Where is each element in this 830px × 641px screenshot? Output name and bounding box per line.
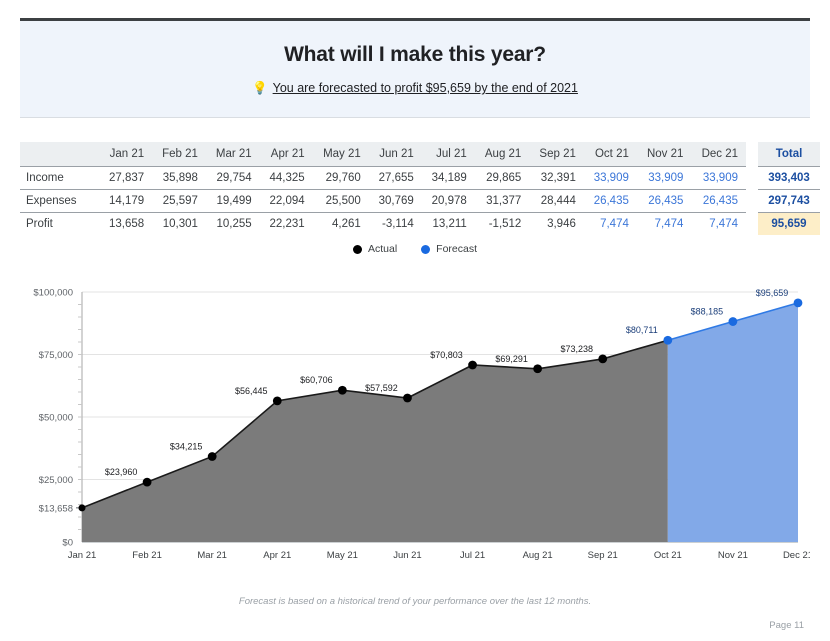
cell-income-sep-21: 32,391: [529, 167, 584, 190]
point-label-mar-21: $34,215: [170, 441, 203, 451]
row-label-profit: Profit: [20, 213, 99, 236]
x-tick-label-feb-21: Feb 21: [132, 550, 162, 561]
table-row: Expenses14,17925,59719,49922,09425,50030…: [20, 190, 746, 213]
column-header-sep-21: Sep 21: [529, 142, 584, 167]
cell-income-jun-21: 27,655: [369, 167, 422, 190]
row-label-header: [20, 142, 99, 167]
cell-profit-feb-21: 10,301: [152, 213, 206, 236]
data-point-aug-21[interactable]: [533, 364, 542, 373]
x-tick-label-apr-21: Apr 21: [263, 550, 291, 561]
data-point-nov-21[interactable]: [729, 317, 738, 326]
y-tick-label: $75,000: [39, 350, 73, 361]
total-profit: 95,659: [758, 213, 820, 236]
cell-income-jan-21: 27,837: [99, 167, 152, 190]
cell-profit-nov-21: 7,474: [637, 213, 692, 236]
cell-income-may-21: 29,760: [313, 167, 369, 190]
table-row: Profit13,65810,30110,25522,2314,261-3,11…: [20, 213, 746, 236]
forecast-area: [668, 303, 798, 542]
point-label-jul-21: $70,803: [430, 350, 463, 360]
cell-profit-aug-21: -1,512: [475, 213, 530, 236]
cell-expenses-jan-21: 14,179: [99, 190, 152, 213]
page-title: What will I make this year?: [20, 21, 810, 67]
data-point-jul-21[interactable]: [468, 361, 477, 370]
x-tick-label-aug-21: Aug 21: [523, 550, 553, 561]
data-point-jan-21[interactable]: [79, 504, 86, 511]
cell-income-dec-21: 33,909: [691, 167, 746, 190]
point-label-jun-21: $57,592: [365, 383, 398, 393]
cell-expenses-aug-21: 31,377: [475, 190, 530, 213]
x-tick-label-jun-21: Jun 21: [393, 550, 422, 561]
cell-expenses-mar-21: 19,499: [206, 190, 260, 213]
column-header-jul-21: Jul 21: [422, 142, 475, 167]
cell-profit-may-21: 4,261: [313, 213, 369, 236]
page-number: Page 11: [769, 620, 804, 631]
point-label-may-21: $60,706: [300, 375, 333, 385]
cell-income-apr-21: 44,325: [260, 167, 313, 190]
y-tick-label: $0: [62, 538, 73, 549]
x-tick-label-may-21: May 21: [327, 550, 358, 561]
total-header: Total: [758, 142, 820, 167]
x-tick-label-nov-21: Nov 21: [718, 550, 748, 561]
data-point-jun-21[interactable]: [403, 394, 412, 403]
cell-income-jul-21: 34,189: [422, 167, 475, 190]
column-header-may-21: May 21: [313, 142, 369, 167]
cell-income-oct-21: 33,909: [584, 167, 637, 190]
cell-income-aug-21: 29,865: [475, 167, 530, 190]
forecast-summary-link[interactable]: You are forecasted to profit $95,659 by …: [273, 81, 578, 95]
table-header-row: Jan 21Feb 21Mar 21Apr 21May 21Jun 21Jul …: [20, 142, 746, 167]
y-tick-label-first-value: $13,658: [39, 503, 73, 514]
total-row: 393,403: [758, 167, 820, 190]
months-table-body: Income27,83735,89829,75444,32529,76027,6…: [20, 167, 746, 236]
chart-legend: ActualForecast: [0, 243, 830, 255]
cell-expenses-dec-21: 26,435: [691, 190, 746, 213]
point-label-aug-21: $69,291: [495, 354, 528, 364]
x-tick-label-mar-21: Mar 21: [197, 550, 227, 561]
months-table: Jan 21Feb 21Mar 21Apr 21May 21Jun 21Jul …: [20, 142, 746, 235]
cell-expenses-oct-21: 26,435: [584, 190, 637, 213]
total-table-head: Total: [758, 142, 820, 167]
lightbulb-icon: 💡: [252, 82, 268, 95]
legend-item-actual: Actual: [353, 243, 397, 255]
point-label-dec-21: $95,659: [756, 288, 789, 298]
data-point-sep-21[interactable]: [598, 355, 607, 364]
cell-income-nov-21: 33,909: [637, 167, 692, 190]
cell-profit-mar-21: 10,255: [206, 213, 260, 236]
x-tick-label-oct-21: Oct 21: [654, 550, 682, 561]
cell-income-feb-21: 35,898: [152, 167, 206, 190]
data-point-mar-21[interactable]: [208, 452, 217, 461]
cell-income-mar-21: 29,754: [206, 167, 260, 190]
cell-expenses-sep-21: 28,444: [529, 190, 584, 213]
column-header-apr-21: Apr 21: [260, 142, 313, 167]
total-header-row: Total: [758, 142, 820, 167]
cell-profit-jul-21: 13,211: [422, 213, 475, 236]
total-income: 393,403: [758, 167, 820, 190]
total-column-table: Total 393,403297,74395,659: [758, 142, 820, 235]
cell-profit-dec-21: 7,474: [691, 213, 746, 236]
cell-profit-apr-21: 22,231: [260, 213, 313, 236]
y-tick-label: $25,000: [39, 475, 73, 486]
point-label-oct-21: $80,711: [626, 325, 658, 335]
cell-expenses-feb-21: 25,597: [152, 190, 206, 213]
column-header-feb-21: Feb 21: [152, 142, 206, 167]
total-table-body: 393,403297,74395,659: [758, 167, 820, 236]
total-row: 95,659: [758, 213, 820, 236]
legend-dot-actual-icon: [353, 245, 362, 254]
cell-expenses-may-21: 25,500: [313, 190, 369, 213]
legend-label: Forecast: [436, 243, 477, 255]
table-row: Income27,83735,89829,75444,32529,76027,6…: [20, 167, 746, 190]
legend-item-forecast: Forecast: [421, 243, 477, 255]
column-header-jun-21: Jun 21: [369, 142, 422, 167]
x-tick-label-jan-21: Jan 21: [68, 550, 97, 561]
data-point-dec-21[interactable]: [794, 298, 803, 307]
column-header-oct-21: Oct 21: [584, 142, 637, 167]
y-tick-label: $50,000: [39, 413, 73, 424]
total-expenses: 297,743: [758, 190, 820, 213]
x-tick-label-jul-21: Jul 21: [460, 550, 485, 561]
legend-dot-forecast-icon: [421, 245, 430, 254]
column-header-nov-21: Nov 21: [637, 142, 692, 167]
point-label-nov-21: $88,185: [691, 307, 724, 317]
report-page: What will I make this year? 💡 You are fo…: [0, 0, 830, 641]
cell-profit-sep-21: 3,946: [529, 213, 584, 236]
data-point-oct-21[interactable]: [663, 336, 672, 345]
chart-svg: $0$25,000$50,000$75,000$100,000$13,658$2…: [20, 280, 810, 565]
cell-expenses-jul-21: 20,978: [422, 190, 475, 213]
months-table-head: Jan 21Feb 21Mar 21Apr 21May 21Jun 21Jul …: [20, 142, 746, 167]
legend-label: Actual: [368, 243, 397, 255]
cell-profit-jan-21: 13,658: [99, 213, 152, 236]
header-banner: What will I make this year? 💡 You are fo…: [20, 21, 810, 118]
cell-expenses-apr-21: 22,094: [260, 190, 313, 213]
data-point-may-21[interactable]: [338, 386, 347, 395]
point-label-feb-21: $23,960: [105, 467, 138, 477]
point-label-apr-21: $56,445: [235, 386, 268, 396]
row-label-income: Income: [20, 167, 99, 190]
cell-profit-jun-21: -3,114: [369, 213, 422, 236]
cumulative-profit-chart: $0$25,000$50,000$75,000$100,000$13,658$2…: [20, 280, 810, 560]
y-tick-label: $100,000: [33, 288, 73, 299]
x-tick-label-sep-21: Sep 21: [588, 550, 618, 561]
column-header-mar-21: Mar 21: [206, 142, 260, 167]
row-label-expenses: Expenses: [20, 190, 99, 213]
column-header-aug-21: Aug 21: [475, 142, 530, 167]
point-label-sep-21: $73,238: [560, 344, 593, 354]
column-header-jan-21: Jan 21: [99, 142, 152, 167]
forecast-disclaimer: Forecast is based on a historical trend …: [0, 596, 830, 607]
data-point-apr-21[interactable]: [273, 396, 282, 405]
data-point-feb-21[interactable]: [143, 478, 152, 487]
financial-table: Jan 21Feb 21Mar 21Apr 21May 21Jun 21Jul …: [20, 142, 810, 235]
cell-expenses-jun-21: 30,769: [369, 190, 422, 213]
cell-profit-oct-21: 7,474: [584, 213, 637, 236]
total-row: 297,743: [758, 190, 820, 213]
x-tick-label-dec-21: Dec 21: [783, 550, 810, 561]
column-header-dec-21: Dec 21: [691, 142, 746, 167]
header-subtitle: 💡 You are forecasted to profit $95,659 b…: [20, 81, 810, 95]
cell-expenses-nov-21: 26,435: [637, 190, 692, 213]
